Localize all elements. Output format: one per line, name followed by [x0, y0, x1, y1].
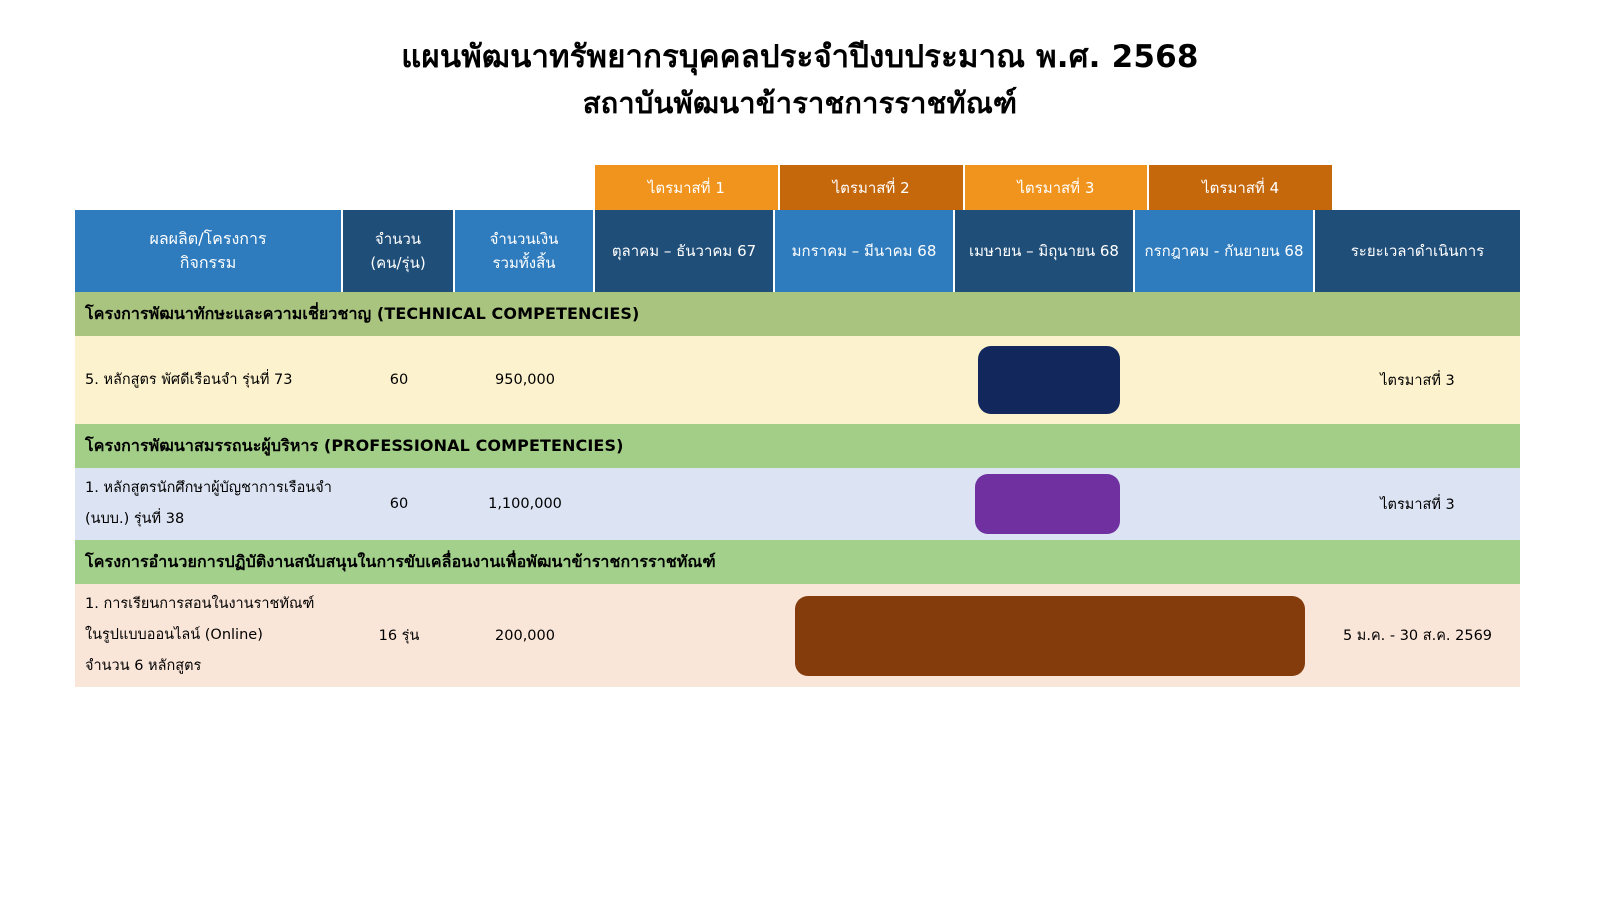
page-title-block: แผนพัฒนาทรัพยากรบุคคลประจำปีงบประมาณ พ.ศ…: [0, 34, 1600, 126]
page-title-line-2: สถาบันพัฒนาข้าราชการราชทัณฑ์: [0, 80, 1600, 126]
quarter-header-4: ไตรมาสที่ 4: [1149, 165, 1332, 210]
table-row: 5. หลักสูตร พัศดีเรือนจำ รุ่นที่ 73 60 9…: [75, 336, 1520, 424]
gantt-bar-navy[interactable]: [978, 346, 1120, 414]
column-header-count-line-2: (คน/รุ่น): [370, 251, 425, 275]
column-header-project: ผลผลิต/โครงการ กิจกรรม: [75, 210, 343, 292]
row-project-name: 1. การเรียนการสอนในงานราชทัณฑ์ ในรูปแบบอ…: [75, 584, 343, 687]
table-row: 1. หลักสูตรนักศึกษาผู้บัญชาการเรือนจำ (น…: [75, 468, 1520, 540]
column-header-count-line-1: จำนวน: [375, 227, 421, 251]
row-project-name-line-1: 5. หลักสูตร พัศดีเรือนจำ รุ่นที่ 73: [85, 365, 292, 396]
quarter-header-row: ไตรมาสที่ 1 ไตรมาสที่ 2 ไตรมาสที่ 3 ไตรม…: [595, 165, 1332, 210]
column-header-budget-line-2: รวมทั้งสิ้น: [493, 251, 556, 275]
row-count: 60: [343, 468, 455, 540]
column-header-month-q2: มกราคม – มีนาคม 68: [775, 210, 955, 292]
row-budget: 1,100,000: [455, 468, 595, 540]
gantt-chart-page: แผนพัฒนาทรัพยากรบุคคลประจำปีงบประมาณ พ.ศ…: [0, 0, 1600, 900]
column-header-budget-line-1: จำนวนเงิน: [490, 227, 559, 251]
gantt-bar-brown[interactable]: [795, 596, 1305, 676]
row-duration: ไตรมาสที่ 3: [1315, 468, 1520, 540]
row-count: 60: [343, 336, 455, 424]
column-header-month-q4: กรกฎาคม - กันยายน 68: [1135, 210, 1315, 292]
column-header-project-line-2: กิจกรรม: [180, 251, 236, 275]
page-title-line-1: แผนพัฒนาทรัพยากรบุคคลประจำปีงบประมาณ พ.ศ…: [0, 34, 1600, 80]
row-count: 16 รุ่น: [343, 584, 455, 687]
row-project-name-line-1: 1. การเรียนการสอนในงานราชทัณฑ์: [85, 589, 314, 620]
column-header-month-q3: เมษายน – มิถุนายน 68: [955, 210, 1135, 292]
row-project-name: 5. หลักสูตร พัศดีเรือนจำ รุ่นที่ 73: [75, 336, 343, 424]
row-gantt-track: [595, 336, 1315, 424]
section-header-technical: โครงการพัฒนาทักษะและความเชี่ยวชาญ (TECHN…: [75, 292, 1520, 336]
row-project-name-line-1: 1. หลักสูตรนักศึกษาผู้บัญชาการเรือนจำ: [85, 473, 332, 504]
row-project-name-line-2: (นบบ.) รุ่นที่ 38: [85, 504, 184, 535]
column-header-count: จำนวน (คน/รุ่น): [343, 210, 455, 292]
row-budget: 200,000: [455, 584, 595, 687]
column-header-project-line-1: ผลผลิต/โครงการ: [149, 227, 266, 251]
column-header-duration: ระยะเวลาดำเนินการ: [1315, 210, 1520, 292]
quarter-header-2: ไตรมาสที่ 2: [780, 165, 965, 210]
quarter-header-3: ไตรมาสที่ 3: [965, 165, 1150, 210]
column-header-budget: จำนวนเงิน รวมทั้งสิ้น: [455, 210, 595, 292]
row-project-name: 1. หลักสูตรนักศึกษาผู้บัญชาการเรือนจำ (น…: [75, 468, 343, 540]
row-gantt-track: [595, 584, 1315, 687]
gantt-bar-purple[interactable]: [975, 474, 1120, 534]
column-header-month-q1: ตุลาคม – ธันวาคม 67: [595, 210, 775, 292]
row-duration: ไตรมาสที่ 3: [1315, 336, 1520, 424]
table-header-row: ผลผลิต/โครงการ กิจกรรม จำนวน (คน/รุ่น) จ…: [75, 210, 1520, 292]
section-header-support: โครงการอำนวยการปฏิบัติงานสนับสนุนในการขั…: [75, 540, 1520, 584]
row-project-name-line-3: จำนวน 6 หลักสูตร: [85, 651, 201, 682]
row-project-name-line-2: ในรูปแบบออนไลน์ (Online): [85, 620, 263, 651]
section-header-professional: โครงการพัฒนาสมรรถนะผู้บริหาร (PROFESSION…: [75, 424, 1520, 468]
table-row: 1. การเรียนการสอนในงานราชทัณฑ์ ในรูปแบบอ…: [75, 584, 1520, 687]
quarter-header-1: ไตรมาสที่ 1: [595, 165, 780, 210]
row-gantt-track: [595, 468, 1315, 540]
row-duration: 5 ม.ค. - 30 ส.ค. 2569: [1315, 584, 1520, 687]
plan-table: ไตรมาสที่ 1 ไตรมาสที่ 2 ไตรมาสที่ 3 ไตรม…: [75, 165, 1520, 687]
row-budget: 950,000: [455, 336, 595, 424]
